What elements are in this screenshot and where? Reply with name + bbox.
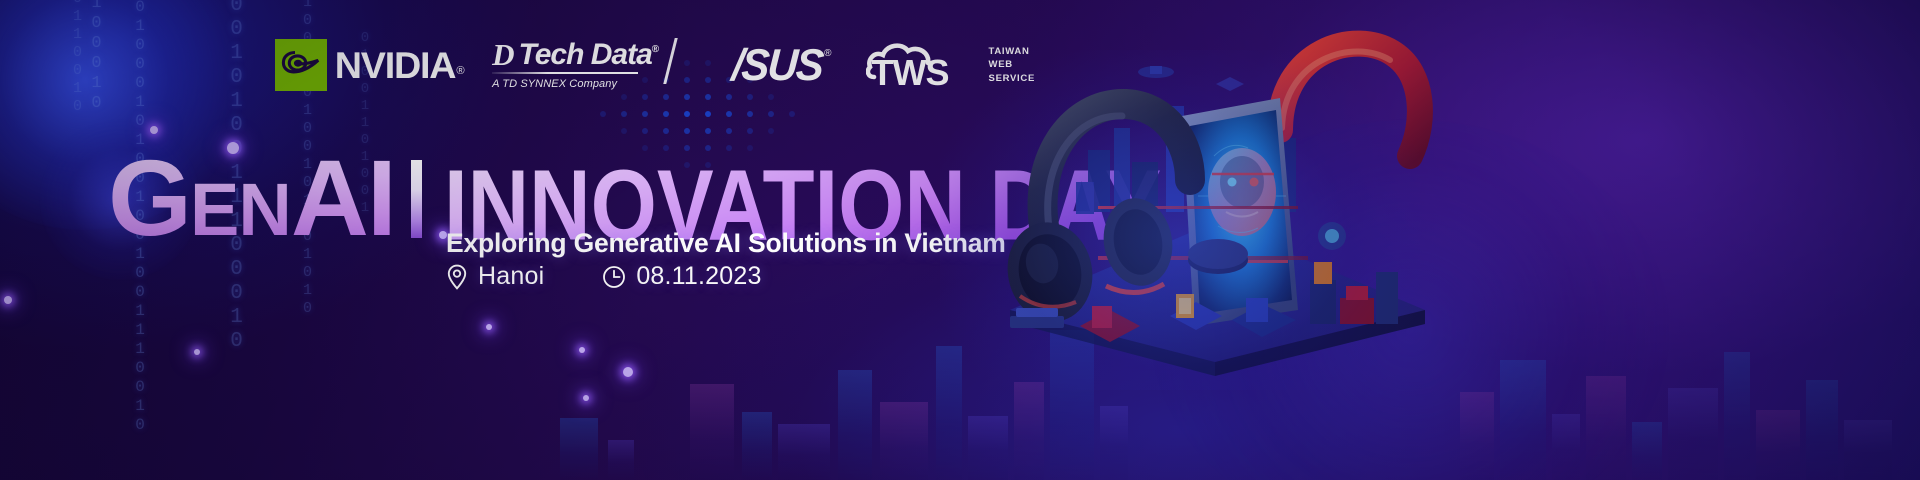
nvidia-eye-icon (275, 39, 327, 91)
sparkle-2 (4, 296, 12, 304)
sparkle-6 (623, 367, 633, 377)
headline-brand-genai: GENAI (108, 148, 395, 248)
nvidia-wordmark: NVIDIA® (335, 47, 464, 84)
skyline-building (880, 402, 928, 480)
skyline-building (608, 440, 634, 480)
tws-cloud-group: TWS (866, 37, 982, 93)
asus-wordmark: /SUS (731, 43, 824, 88)
meta-location: Hanoi (446, 262, 544, 291)
tech-data-tagline: A TD SYNNEX Company (492, 78, 617, 90)
skyline-building (1668, 388, 1718, 480)
tech-data-wordmark: Tech Data® (519, 41, 659, 70)
sparkle-5 (583, 395, 589, 401)
grid-dot (705, 111, 711, 117)
skyline-building (838, 370, 872, 480)
genai-tech-isometric-illustration (980, 10, 1450, 380)
tech-data-slash-accent (663, 38, 677, 84)
headline-divider (411, 160, 422, 238)
asus-registered-mark: ® (824, 48, 831, 59)
skyline-building (1014, 382, 1044, 480)
grid-dot (768, 111, 774, 117)
skyline-building (1806, 380, 1838, 480)
grid-dot (621, 128, 627, 134)
sparkle-0 (150, 126, 158, 134)
sparkle-7 (579, 347, 585, 353)
skyline-building (968, 416, 1008, 480)
grid-dot (768, 128, 774, 134)
skyline-building (690, 384, 734, 480)
meta-location-label: Hanoi (478, 262, 544, 291)
logo-nvidia[interactable]: NVIDIA® (275, 39, 462, 91)
tws-wordmark: TWS (872, 55, 949, 91)
binary-column-1: 0110010 (70, 0, 85, 116)
grid-dot (789, 111, 795, 117)
sparkle-8 (194, 349, 200, 355)
grid-dot (747, 128, 753, 134)
grid-dot (747, 111, 753, 117)
binary-column-0: 100100010 (88, 0, 105, 114)
nvidia-registered-mark: ® (456, 65, 463, 77)
city-skyline-silhouette (0, 305, 1920, 480)
skyline-building (1460, 392, 1494, 480)
skyline-building (560, 418, 598, 480)
meta-date: 08.11.2023 (602, 262, 761, 291)
grid-dot (684, 111, 690, 117)
grid-dot (621, 111, 627, 117)
logo-tech-data[interactable]: D Tech Data® A TD SYNNEX Company (492, 40, 674, 90)
skyline-building (1552, 414, 1580, 480)
skyline-building (1632, 422, 1662, 480)
sparkle-4 (486, 324, 492, 330)
genai-innovation-day-banner: 1001000100110010110100010100100100111001… (0, 0, 1920, 480)
skyline-building (936, 346, 962, 480)
meta-date-label: 08.11.2023 (636, 262, 761, 291)
grid-dot (642, 128, 648, 134)
grid-dot (684, 128, 690, 134)
grid-dot (663, 111, 669, 117)
skyline-building (778, 424, 830, 480)
tech-data-registered-mark: ® (652, 44, 658, 55)
skyline-building (1724, 352, 1750, 480)
skyline-building (742, 412, 772, 480)
logo-asus[interactable]: /SUS ® (732, 44, 831, 86)
grid-dot (726, 128, 732, 134)
sponsor-logo-row: NVIDIA® D Tech Data® A TD SYNNEX Company… (275, 34, 1035, 96)
grid-dot (705, 128, 711, 134)
subtitle-text: Exploring Generative AI Solutions in Vie… (446, 228, 1006, 259)
tech-data-d-mark: D (492, 40, 512, 69)
skyline-building (1844, 420, 1892, 480)
grid-dot (663, 128, 669, 134)
tech-data-underline (492, 72, 638, 74)
skyline-building (1100, 406, 1128, 480)
event-meta-row: Hanoi 08.11.2023 (446, 262, 762, 291)
grid-dot (642, 111, 648, 117)
skyline-building (1500, 360, 1546, 480)
map-pin-icon (446, 264, 468, 290)
clock-icon (602, 265, 626, 289)
grid-dot (726, 111, 732, 117)
grid-dot (600, 111, 606, 117)
skyline-building (1586, 376, 1626, 480)
skyline-building (1756, 410, 1800, 480)
